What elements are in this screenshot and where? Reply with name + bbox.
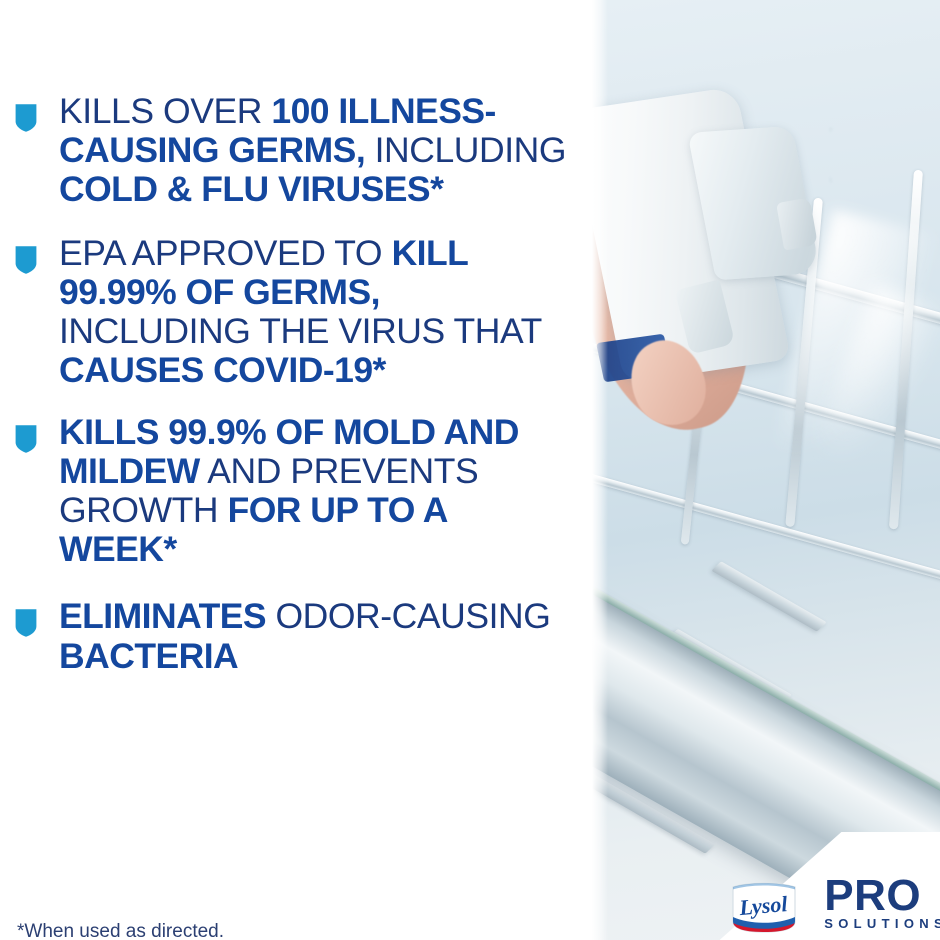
claim-item: KILLS OVER 100 ILLNESS-CAUSING GERMS, IN… — [0, 92, 592, 210]
shield-icon — [14, 103, 38, 133]
lysol-pro-solutions-ad: KILLS OVER 100 ILLNESS-CAUSING GERMS, IN… — [0, 0, 940, 940]
claim-item: ELIMINATES ODOR-CAUSING BACTERIA — [0, 597, 592, 675]
copy-panel: KILLS OVER 100 ILLNESS-CAUSING GERMS, IN… — [0, 0, 592, 940]
lysol-logo: Lysol — [725, 880, 803, 934]
product-photo — [592, 0, 940, 940]
claim-text: ELIMINATES ODOR-CAUSING BACTERIA — [59, 597, 569, 675]
shield-icon — [14, 424, 38, 454]
spray-bottle-and-hand — [594, 72, 824, 432]
shield-icon — [14, 245, 38, 275]
photo-left-fade — [592, 0, 608, 940]
svg-text:Lysol: Lysol — [738, 891, 790, 920]
pro-wordmark: PRO® — [824, 875, 940, 916]
claims-list: KILLS OVER 100 ILLNESS-CAUSING GERMS, IN… — [0, 92, 592, 676]
claim-text: EPA APPROVED TO KILL 99.99% OF GERMS, IN… — [59, 234, 569, 391]
claim-text: KILLS 99.9% OF MOLD AND MILDEW AND PREVE… — [59, 413, 569, 570]
brand-lockup: Lysol PRO® SOLUTIONS — [650, 832, 940, 940]
claim-item: KILLS 99.9% OF MOLD AND MILDEW AND PREVE… — [0, 413, 592, 570]
shield-icon — [14, 608, 38, 638]
footnote: *When used as directed. — [17, 921, 224, 940]
spray-bottle-nozzle — [776, 197, 818, 250]
pro-text: PRO — [824, 871, 921, 920]
claim-text: KILLS OVER 100 ILLNESS-CAUSING GERMS, IN… — [59, 92, 569, 210]
pro-solutions-lockup: PRO® SOLUTIONS — [824, 875, 940, 932]
claim-item: EPA APPROVED TO KILL 99.99% OF GERMS, IN… — [0, 234, 592, 391]
